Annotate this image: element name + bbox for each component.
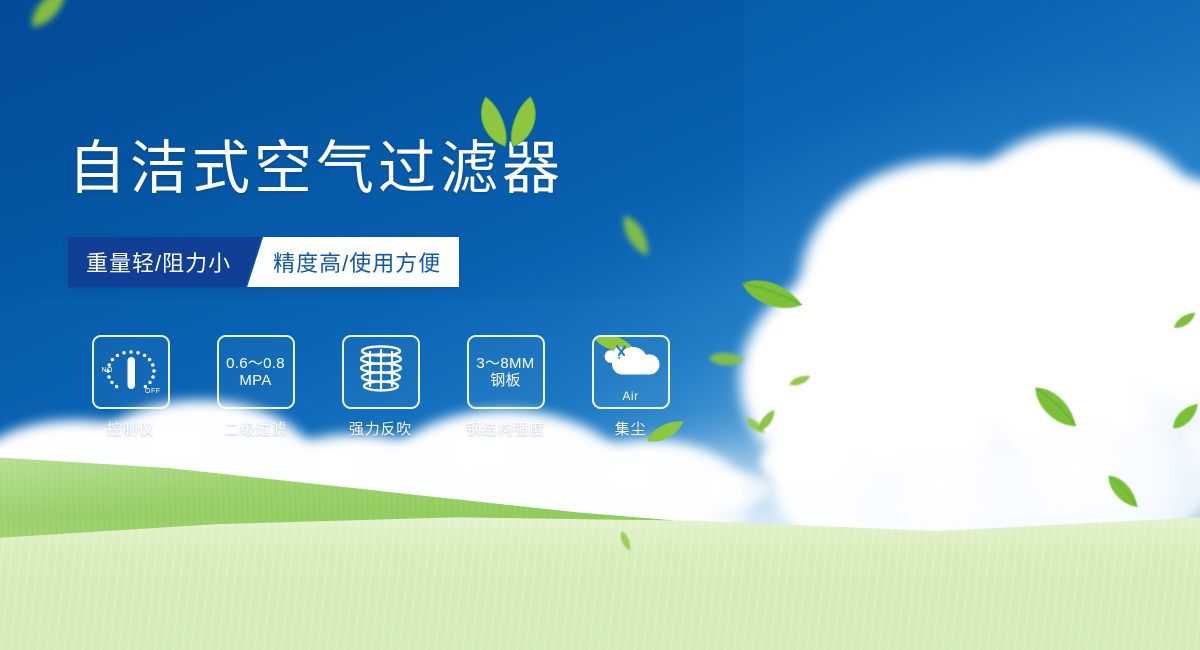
gauge-label-off: OFF: [145, 388, 161, 395]
feature-line1: 3〜8MM: [476, 355, 534, 372]
feature-icon-box: NO OFF: [92, 335, 170, 409]
feature-item-steel-strength[interactable]: 3〜8MM 钢板 钢结构强度: [443, 335, 568, 439]
feature-line2: 钢板: [476, 372, 534, 389]
feature-icon-box: 0.6〜0.8 MPA: [217, 335, 295, 409]
feature-item-controller[interactable]: NO OFF 控制仪: [68, 335, 193, 439]
feature-item-backblow[interactable]: 强力反吹: [318, 335, 443, 439]
feature-caption: 二级过滤: [224, 418, 287, 439]
filter-cartridge-icon: [354, 343, 408, 402]
feature-caption: 控制仪: [107, 418, 154, 439]
steel-plate-text-icon: 3〜8MM 钢板: [476, 355, 534, 390]
gauge-dial-icon: NO OFF: [103, 346, 159, 398]
feature-line2: MPA: [226, 372, 285, 389]
feature-item-secondary-filter[interactable]: 0.6〜0.8 MPA 二级过滤: [193, 335, 318, 439]
feature-list: NO OFF 控制仪 0.6〜0.8 MPA 二级过滤: [68, 335, 693, 439]
cloud-air-icon: Air: [600, 341, 662, 403]
feature-icon-box: [342, 335, 420, 409]
feature-caption: 钢结构强度: [466, 418, 545, 439]
feature-line1: 0.6〜0.8: [226, 355, 285, 372]
feature-item-dust-collection[interactable]: Air 集尘: [568, 335, 693, 439]
feature-icon-box: Air: [592, 335, 670, 409]
pressure-text-icon: 0.6〜0.8 MPA: [226, 355, 285, 390]
cloud-air-label: Air: [600, 389, 662, 403]
gauge-label-no: NO: [102, 367, 114, 374]
subtitle-segment-right: 精度高/使用方便: [247, 237, 459, 287]
feature-icon-box: 3〜8MM 钢板: [467, 335, 545, 409]
feature-caption: 强力反吹: [349, 418, 412, 439]
sprout-leaves-icon: [468, 92, 546, 155]
subtitle-bar: 重量轻/阻力小 精度高/使用方便: [68, 237, 459, 287]
product-banner: 自洁式空气过滤器 重量轻/阻力小 精度高/使用方便: [0, 0, 1200, 650]
subtitle-segment-left: 重量轻/阻力小: [68, 237, 261, 287]
title-block: 自洁式空气过滤器: [68, 140, 564, 198]
